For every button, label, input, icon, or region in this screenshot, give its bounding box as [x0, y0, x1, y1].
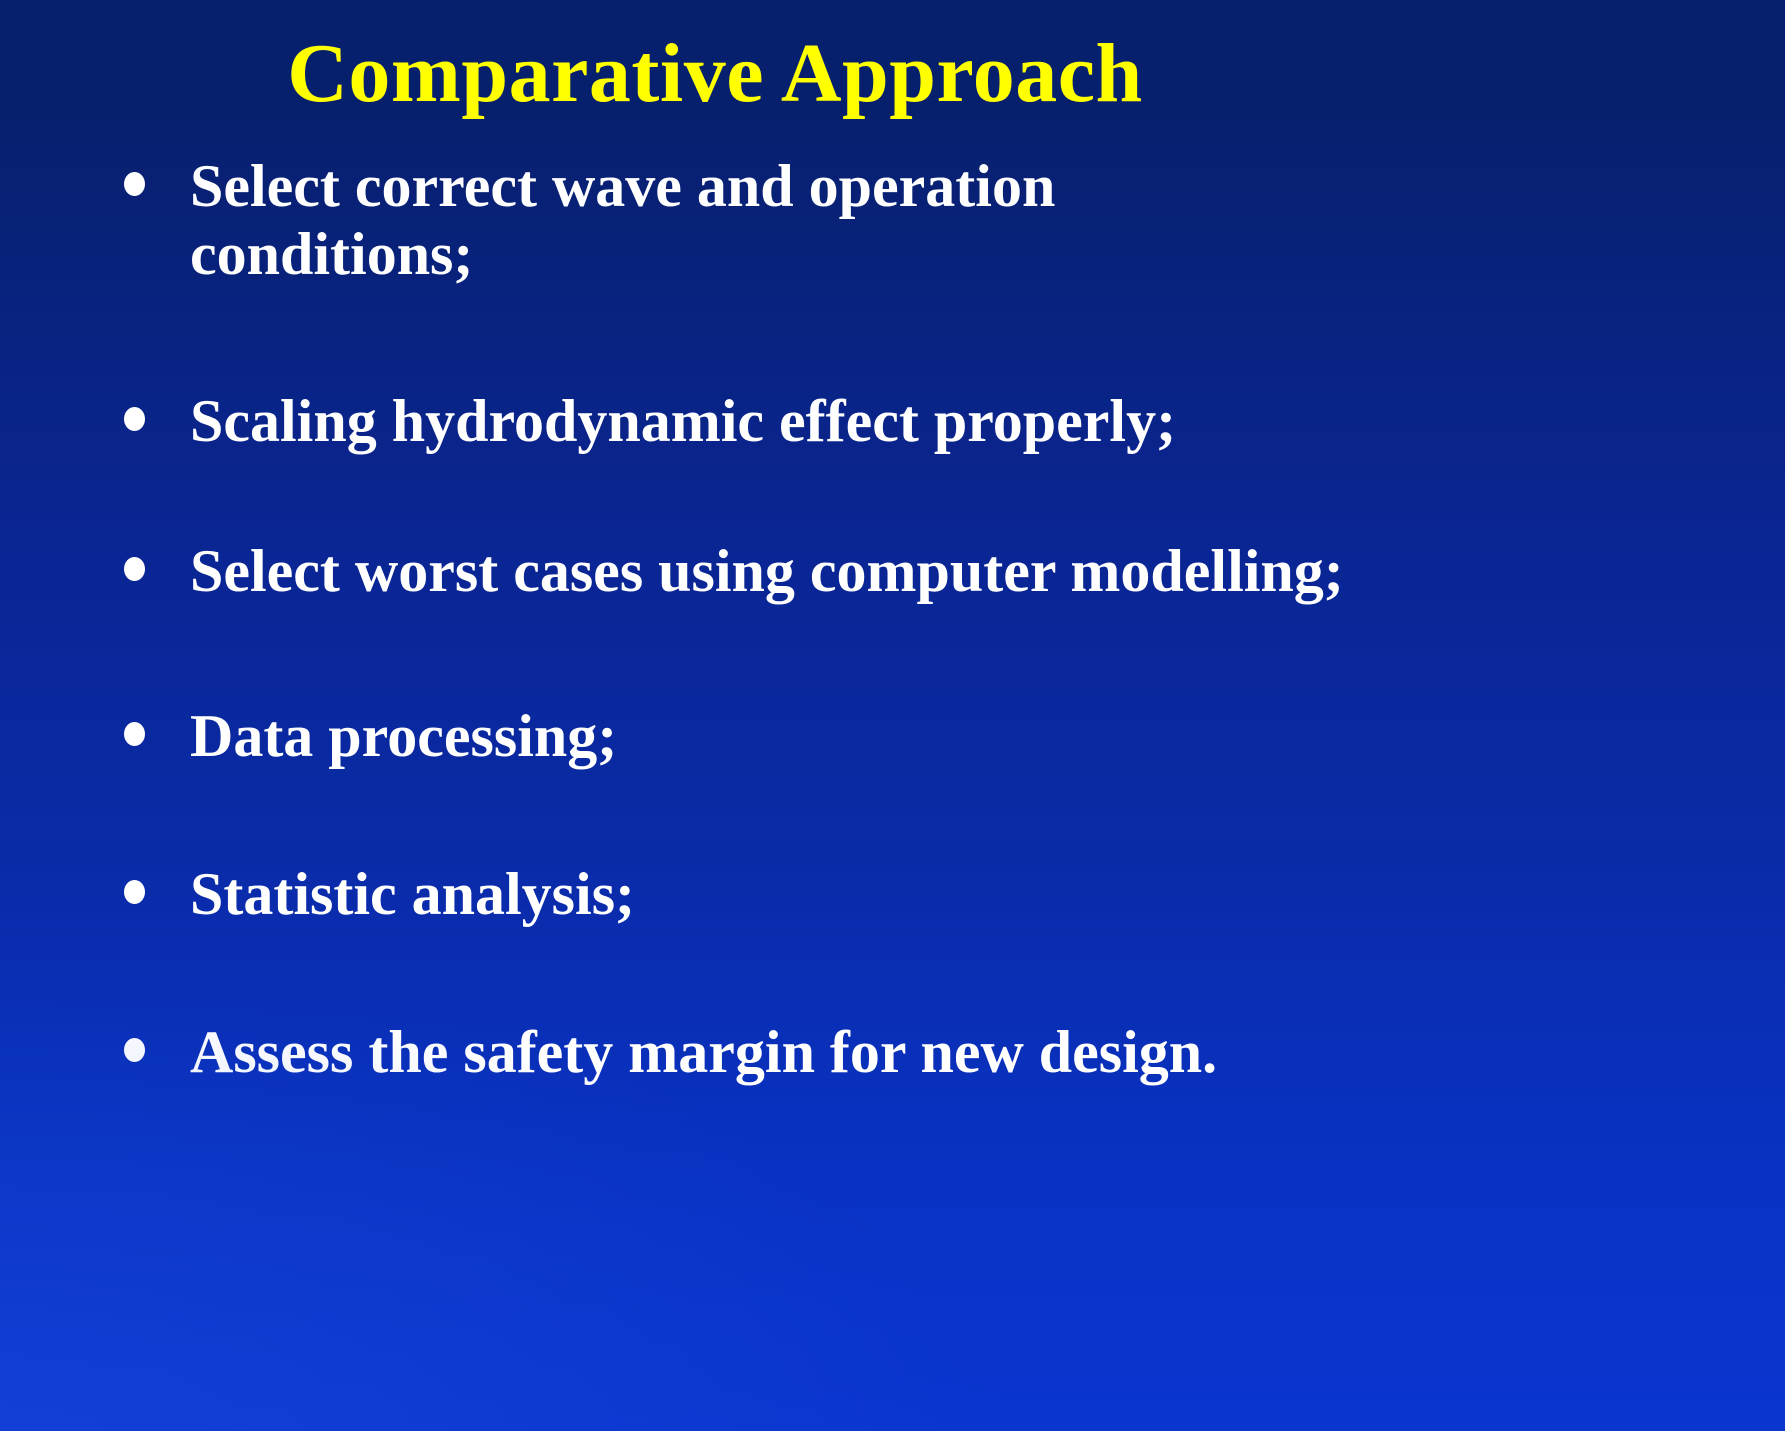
bullet-text-5: Statistic analysis;: [190, 860, 1745, 928]
bullet-item-1: Select correct wave and operation condit…: [118, 152, 1745, 289]
presentation-slide: Comparative Approach Select correct wave…: [0, 0, 1785, 1431]
bullet-text-3: Select worst cases using computer modell…: [190, 537, 1350, 605]
bullet-text-2: Scaling hydrodynamic effect properly;: [190, 387, 1745, 455]
bullet-item-6: Assess the safety margin for new design.: [118, 1018, 1745, 1086]
bullet-dot-icon: [124, 172, 145, 196]
bullet-text-1: Select correct wave and operation condit…: [190, 152, 1350, 289]
bullet-text-6: Assess the safety margin for new design.: [190, 1018, 1745, 1086]
bullet-item-5: Statistic analysis;: [118, 860, 1745, 928]
bullet-list: Select correct wave and operation condit…: [118, 152, 1745, 1087]
bullet-dot-icon: [124, 722, 145, 746]
bullet-dot-icon: [124, 557, 145, 581]
bullet-text-4: Data processing;: [190, 702, 1745, 770]
bullet-dot-icon: [124, 407, 145, 431]
bullet-item-3: Select worst cases using computer modell…: [118, 537, 1745, 605]
bullet-item-2: Scaling hydrodynamic effect properly;: [118, 387, 1745, 455]
bullet-item-4: Data processing;: [118, 702, 1745, 770]
slide-title: Comparative Approach: [0, 30, 1430, 118]
bullet-dot-icon: [124, 1038, 145, 1062]
bullet-dot-icon: [124, 880, 145, 904]
